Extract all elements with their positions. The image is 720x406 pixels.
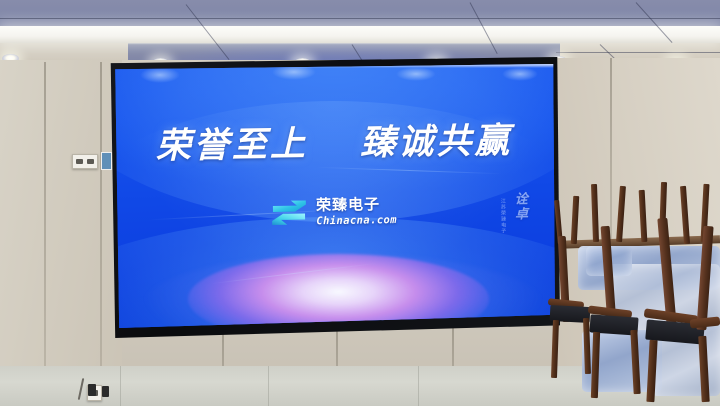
logo-text-block: 荣臻电子 Chinacna.com bbox=[316, 197, 397, 227]
headline-right-phrase: 臻诚共赢 bbox=[360, 120, 513, 163]
wall-socket-upper-left[interactable] bbox=[72, 154, 98, 169]
arrow-logo-icon bbox=[271, 199, 307, 228]
power-plug bbox=[102, 386, 109, 397]
screen-glare bbox=[396, 67, 436, 81]
ceiling-seam bbox=[556, 52, 720, 53]
display-headline: 荣誉至上 臻诚共赢 bbox=[113, 123, 555, 165]
socket-slot bbox=[87, 159, 94, 164]
floor-tile-line bbox=[268, 366, 269, 406]
floor-tile-line bbox=[120, 366, 121, 406]
room-scene: 荣誉至上 臻诚共赢 bbox=[0, 0, 720, 406]
screen-glare bbox=[140, 67, 180, 83]
seal-small-text: 江苏荣臻电子 bbox=[500, 198, 508, 234]
screen-glare bbox=[502, 67, 538, 81]
floor-tile-line bbox=[418, 366, 419, 406]
wall-panel-seam bbox=[44, 62, 46, 406]
wall-panel-left bbox=[0, 60, 122, 406]
seal-big-text: 诠卓 bbox=[510, 192, 529, 222]
logo-company-name-cn: 荣臻电子 bbox=[316, 197, 397, 213]
socket-slot bbox=[76, 159, 83, 164]
display-seal: 江苏荣臻电子 诠卓 bbox=[500, 192, 530, 234]
ceiling-light-strip bbox=[0, 26, 720, 43]
logo-company-url: Chinacna.com bbox=[316, 215, 397, 227]
headline-left-phrase: 荣誉至上 bbox=[155, 123, 308, 166]
wall-panel-seam bbox=[610, 58, 612, 258]
power-plug bbox=[88, 384, 96, 396]
display-screen[interactable]: 荣誉至上 臻诚共赢 bbox=[113, 64, 555, 328]
ceiling-seam bbox=[0, 18, 720, 19]
wall-panel-seam bbox=[100, 62, 102, 406]
led-video-wall[interactable]: 荣誉至上 臻诚共赢 bbox=[108, 57, 560, 338]
